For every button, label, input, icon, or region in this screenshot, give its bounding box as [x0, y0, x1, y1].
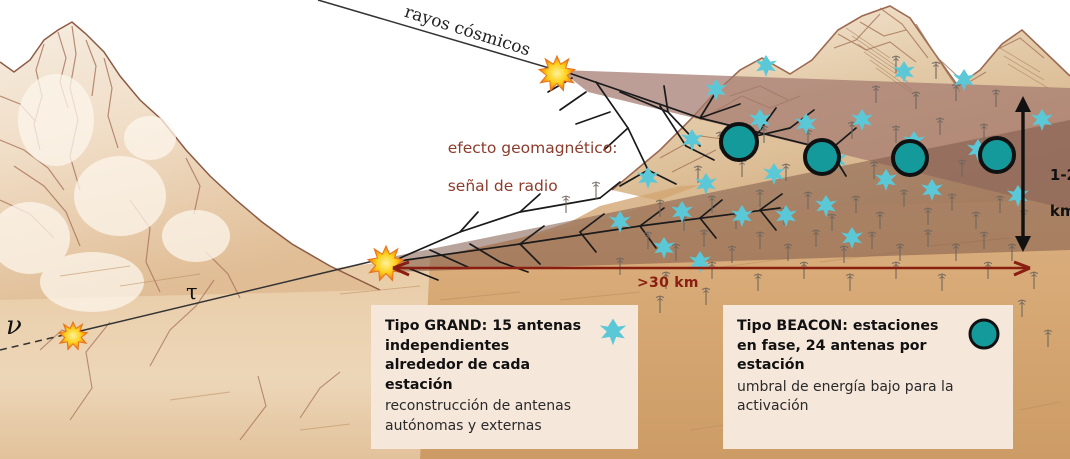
beacon-station-2	[805, 140, 839, 174]
neutrino-symbol-label: ν	[6, 311, 22, 341]
beacon-station-4	[980, 138, 1014, 172]
beacon-station-circle-icon	[967, 317, 1001, 351]
caption-beacon-subtext: umbral de energía bajo para la activació…	[737, 378, 999, 417]
grand-pinwheel-antenna-icon	[596, 315, 630, 349]
beacon-station-1	[721, 124, 757, 160]
distance-label: >30 km	[637, 275, 699, 291]
caption-beacon-headline: Tipo BEACON: estaciones en fase, 24 ante…	[737, 317, 999, 376]
caption-box-beacon: Tipo BEACON: estaciones en fase, 24 ante…	[723, 305, 1013, 449]
geomagnetic-effect-label: efecto geomagnético: señal de radio	[428, 120, 618, 215]
geomagnetic-line-2: señal de radio	[448, 177, 558, 195]
height-line-2: kms	[1050, 202, 1070, 220]
caption-grand-headline: Tipo GRAND: 15 antenas independientes al…	[385, 317, 624, 395]
caption-box-grand: Tipo GRAND: 15 antenas independientes al…	[371, 305, 638, 449]
height-label: 1-2 kms	[1029, 148, 1070, 238]
caption-grand-subtext: reconstrucción de antenas autónomas y ex…	[385, 397, 624, 436]
tau-symbol-label: τ	[186, 280, 198, 304]
height-line-1: 1-2	[1050, 166, 1070, 184]
beacon-station-3	[893, 141, 927, 175]
geomagnetic-line-1: efecto geomagnético:	[448, 139, 618, 157]
diagram-canvas: rayos cósmicos efecto geomagnético: seña…	[0, 0, 1070, 459]
